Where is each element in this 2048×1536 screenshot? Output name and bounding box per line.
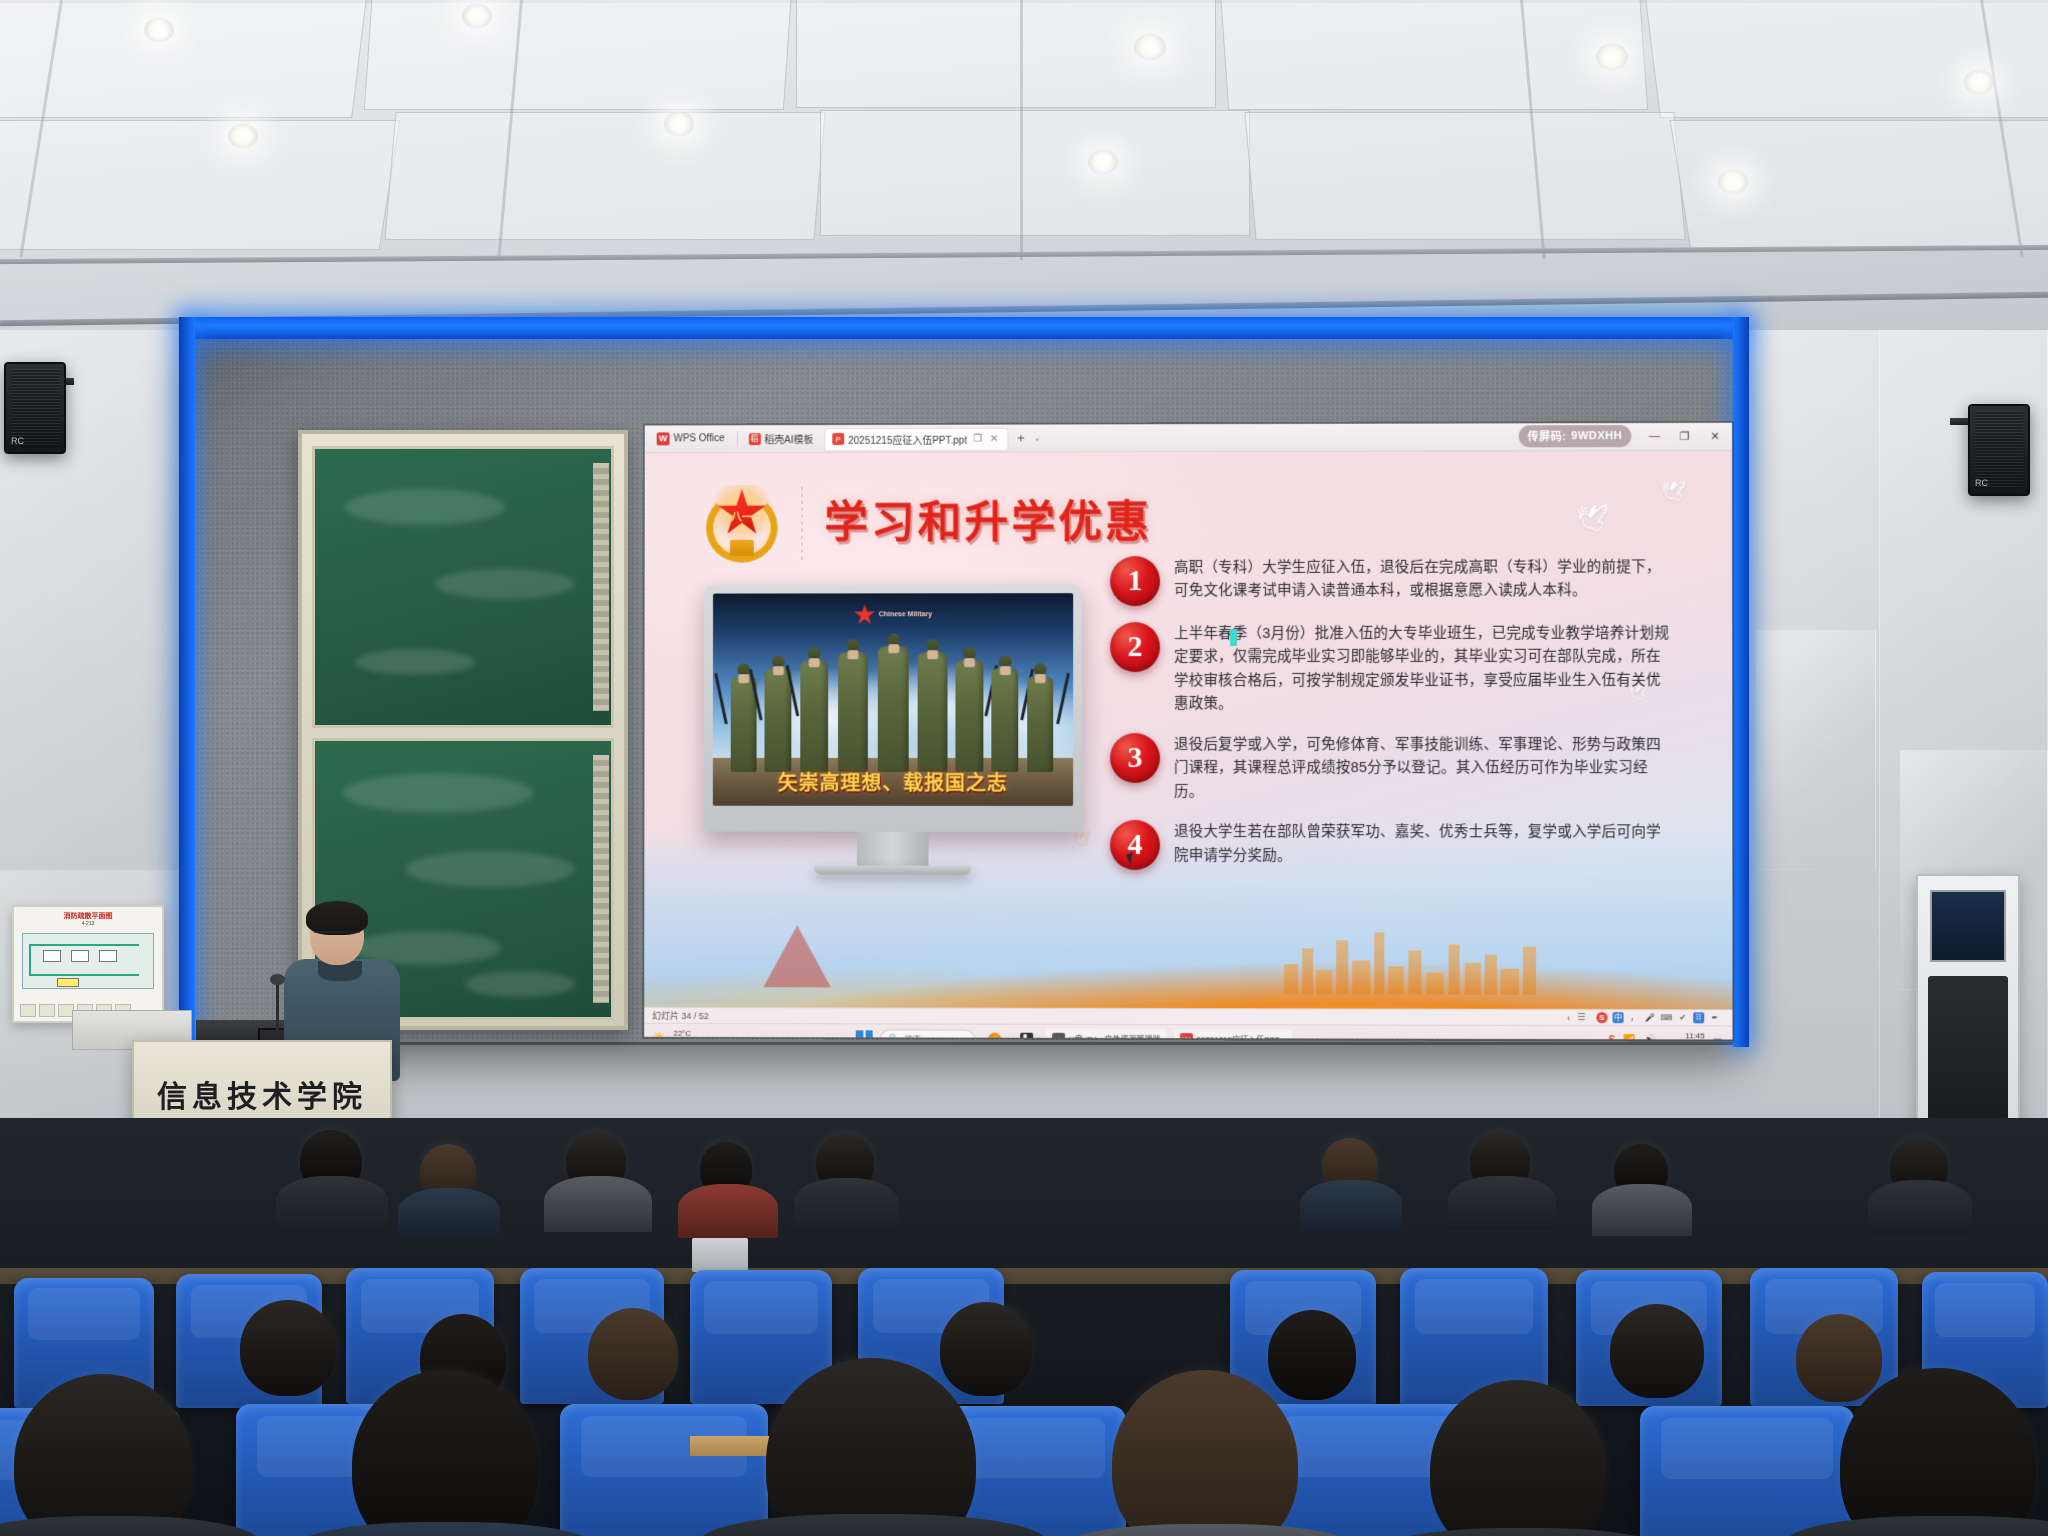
text-cursor — [1230, 629, 1237, 646]
sogou-tray-icon[interactable]: S — [1608, 1035, 1615, 1039]
venue-sign: 信息技术学院 — [157, 1072, 367, 1116]
imac-mockup: Chinese Military 矢崇高理想、载报国之志 — [704, 584, 1082, 832]
ime-toolbox-icon[interactable]: ✔ — [1677, 1012, 1688, 1023]
speaker-right: RC — [1968, 404, 2030, 496]
ime-apps-icon[interactable]: ⠿ — [1693, 1012, 1704, 1023]
ceiling-light — [1596, 44, 1628, 70]
windows-taskbar: ⛅ 22°C 多云 🔍 搜索 ▙ ▬ — [644, 1023, 1732, 1040]
wps-tab-bar: W WPS Office 稻 稻壳AI模板 P 20251215应征入伍PPT.… — [645, 423, 1732, 454]
slide-photo-block: Chinese Military 矢崇高理想、载报国之志 — [704, 584, 1082, 875]
status-bar-right: ‹ ☰ S 中 ， 🎤 ⌨ ✔ ⠿ ✒ — [1567, 1012, 1724, 1023]
speaker-label: RC — [1975, 478, 1988, 488]
dove-graphic: 🕊 — [1576, 503, 1609, 534]
auditorium-chair — [560, 1404, 768, 1536]
tab-close-icon[interactable]: ✕ — [988, 433, 1000, 444]
side-equipment-cabinet — [1916, 874, 2020, 1136]
taskbar-system-tray: S 📶 🔊 11:45 2025/12/15 ▭ — [1608, 1031, 1726, 1039]
ceiling-light — [1088, 150, 1118, 174]
speaker-label: RC — [11, 436, 24, 446]
poster-diagram — [22, 933, 154, 989]
microphone-stand — [276, 982, 279, 1038]
speaker-left: RC — [4, 362, 66, 454]
poster-subtitle: 4-213 — [14, 921, 162, 927]
ceiling-light — [1964, 70, 1994, 94]
slide-title: 学习和升学优惠 — [824, 501, 1152, 545]
wps-logo-icon: W — [657, 432, 670, 445]
dove-graphic: 🕊 — [1660, 479, 1686, 504]
ceiling-light — [1718, 170, 1748, 194]
ime-skin-icon[interactable]: ✒ — [1709, 1012, 1720, 1023]
bullet-item: 4 退役大学生若在部队曾荣获军功、嘉奖、优秀士兵等，复学或入学后可向学院申请学分… — [1110, 820, 1672, 871]
volume-icon[interactable]: 🔊 — [1644, 1035, 1657, 1039]
led-accent-left — [179, 317, 195, 1047]
collapse-panel-icon[interactable]: ‹ — [1567, 1012, 1570, 1022]
audience-head — [1610, 1304, 1704, 1398]
audience-head — [1796, 1314, 1882, 1402]
header-divider — [801, 487, 802, 561]
pla-emblem-icon: 八一 — [704, 483, 779, 565]
bullet-text: 上半年春季（3月份）批准入伍的大专毕业班生，已完成专业教学培养计划规定要求，仅需… — [1174, 622, 1672, 717]
lecture-hall-scene: RC RC W WPS Off — [0, 0, 2048, 1536]
poster-title: 消防疏散平面图 — [14, 907, 162, 921]
ceiling-light — [228, 124, 258, 148]
bullet-number-badge: 3 — [1110, 733, 1160, 783]
screencast-code-badge[interactable]: 传屏码: 9WDXHH — [1518, 425, 1631, 447]
photo-caption: 矢崇高理想、载报国之志 — [713, 767, 1073, 796]
sogou-logo-icon[interactable]: S — [1596, 1012, 1607, 1023]
evacuation-plan-poster: 消防疏散平面图 4-213 — [12, 905, 164, 1023]
audience-head — [14, 1374, 192, 1536]
tab-list-caret-icon[interactable]: ⌄ — [1034, 434, 1041, 443]
led-accent-right — [1733, 317, 1749, 1047]
slide-canvas[interactable]: 🕊 🕊 🕊 🕊 八一 学习和升学优惠 — [644, 451, 1732, 1009]
audience-head — [588, 1308, 678, 1400]
tab-label: 稻壳AI模板 — [764, 431, 813, 446]
projected-computer-screen: W WPS Office 稻 稻壳AI模板 P 20251215应征入伍PPT.… — [644, 423, 1732, 1040]
ime-toolbar[interactable]: S 中 ， 🎤 ⌨ ✔ ⠿ ✒ — [1592, 1012, 1724, 1023]
minimize-button[interactable]: — — [1639, 424, 1669, 448]
audience-head — [940, 1302, 1032, 1396]
slide-header: 八一 学习和升学优惠 — [704, 482, 1152, 565]
ime-keyboard-icon[interactable]: ⌨ — [1661, 1012, 1672, 1023]
bullet-text: 退役大学生若在部队曾荣获军功、嘉奖、优秀士兵等，复学或入学后可向学院申请学分奖励… — [1174, 820, 1672, 869]
slide-city-skyline-graphic — [1280, 926, 1551, 995]
tab-presentation-file[interactable]: P 20251215应征入伍PPT.ppt ❐ ✕ — [824, 427, 1008, 449]
ceiling — [0, 0, 2048, 352]
menu-icon[interactable]: ☰ — [1577, 1012, 1585, 1023]
bullet-item: 3 退役后复学或入学，可免修体育、军事技能训练、军事理论、形势与政策四门课程，其… — [1110, 733, 1672, 805]
ceiling-light — [144, 18, 174, 42]
wps-office-button[interactable]: W WPS Office — [649, 430, 733, 447]
ime-voice-input-icon[interactable]: 🎤 — [1645, 1012, 1656, 1023]
new-tab-button[interactable]: + — [1012, 431, 1030, 446]
slide-bullet-list: 1 高职（专科）大学生应征入伍，退役后在完成高职（专科）学业的前提下，可免文化课… — [1110, 555, 1672, 887]
bullet-item: 1 高职（专科）大学生应征入伍，退役后在完成高职（专科）学业的前提下，可免文化课… — [1110, 555, 1672, 606]
taskbar-item-wps[interactable]: W 20251215应征入伍PPT.p — [1174, 1029, 1292, 1040]
tab-label: 20251215应征入伍PPT.ppt — [848, 431, 967, 446]
ceiling-light — [1134, 34, 1166, 60]
tab-divider — [736, 431, 737, 447]
docer-ai-icon: 稻 — [748, 433, 760, 445]
screencast-code-value: 9WDXHH — [1571, 430, 1622, 442]
tab-restore-icon[interactable]: ❐ — [971, 433, 984, 444]
photo-watermark: Chinese Military — [854, 604, 932, 625]
bullet-text: 退役后复学或入学，可免修体育、军事技能训练、军事理论、形势与政策四门课程，其课程… — [1174, 733, 1672, 805]
wps-brand-label: WPS Office — [674, 433, 725, 444]
audience-laptop — [692, 1238, 748, 1272]
ime-chinese-mode-icon[interactable]: 中 — [1613, 1012, 1624, 1023]
bullet-text: 高职（专科）大学生应征入伍，退役后在完成高职（专科）学业的前提下，可免文化课考试… — [1174, 555, 1672, 604]
imac-base — [814, 866, 971, 875]
ppt-file-icon: P — [832, 433, 844, 445]
tab-docer-ai-template[interactable]: 稻 稻壳AI模板 — [741, 428, 820, 450]
ceiling-light — [664, 112, 694, 136]
bullet-item: 2 上半年春季（3月份）批准入伍的大专毕业班生，已完成专业教学培养计划规定要求，… — [1110, 622, 1672, 717]
audience-head — [1268, 1310, 1356, 1400]
slide-mountain-graphic — [763, 925, 831, 987]
maximize-button[interactable]: ❐ — [1670, 424, 1700, 448]
soldiers-photo: Chinese Military 矢崇高理想、载报国之志 — [713, 593, 1073, 806]
microphone-icon — [270, 974, 285, 985]
photo-watermark-text: Chinese Military — [879, 611, 932, 618]
apple-logo-icon — [704, 806, 1082, 832]
auditorium-chair — [1640, 1406, 1854, 1536]
emblem-char: 八一 — [731, 509, 753, 525]
imac-stand — [857, 832, 929, 866]
taskbar-clock[interactable]: 11:45 2025/12/15 — [1664, 1031, 1704, 1039]
notification-center-icon[interactable]: ▭ — [1713, 1035, 1723, 1039]
bullet-number-badge: 2 — [1110, 622, 1160, 672]
screencast-label: 传屏码: — [1527, 428, 1566, 444]
taskbar-item-usb-drive[interactable]: ▬ U盘 (F:) - 文件资源管理器 — [1046, 1028, 1166, 1039]
audience-area — [0, 1118, 2048, 1536]
bullet-number-badge: 1 — [1110, 556, 1160, 606]
ime-punctuation-icon[interactable]: ， — [1629, 1012, 1640, 1023]
weather-temperature: 22°C — [673, 1029, 691, 1038]
audience-head — [240, 1300, 336, 1396]
clock-time: 11:45 — [1685, 1031, 1705, 1039]
close-button[interactable]: ✕ — [1700, 424, 1730, 448]
wifi-icon[interactable]: 📶 — [1623, 1035, 1636, 1039]
ceiling-light — [462, 4, 492, 28]
led-accent-top — [193, 317, 1741, 339]
slide-counter: 幻灯片 34 / 52 — [652, 1009, 709, 1022]
window-title-controls: 传屏码: 9WDXHH — ❐ ✕ — [1518, 424, 1730, 449]
